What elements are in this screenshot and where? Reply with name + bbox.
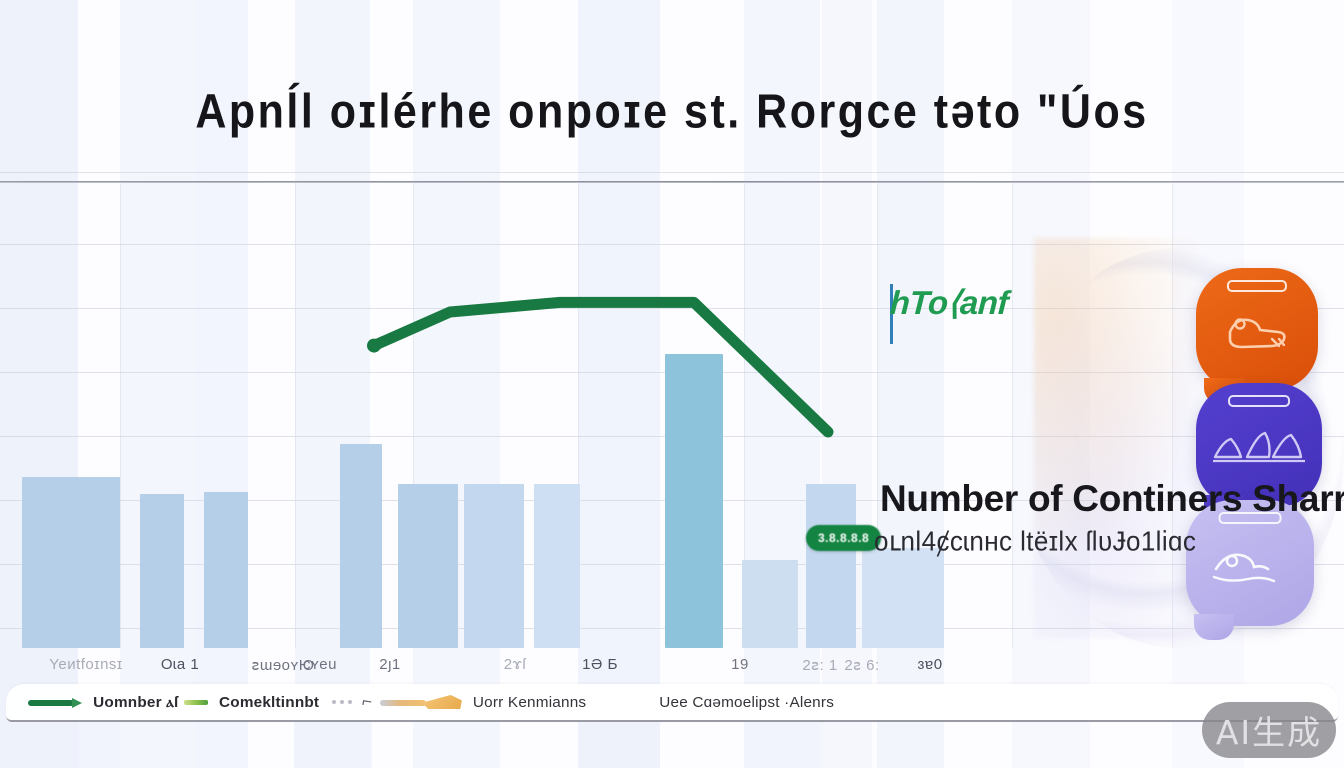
chart-title: Apnĺl oɪlérhe onpoɪe st. Rorgce tǝto "Úo… bbox=[0, 85, 1344, 140]
x-tick-label: 2ꙅ 6: bbox=[844, 656, 879, 674]
x-tick-label: 2ɤſ bbox=[504, 656, 526, 673]
legend-item-3[interactable]: Uee Cɑǝmoеlipst ·Alenrs bbox=[661, 694, 832, 711]
legend-label-2: Uorr Kenmianns bbox=[473, 694, 586, 711]
legend[interactable]: Uomnber ⲁſ Comekltinnbt ⌐ Uorr Kenmianns… bbox=[6, 684, 1338, 722]
legend-label-0: Uomnber ⲁſ bbox=[93, 694, 178, 711]
overlay-subline: oւnl4ȼcɩnʜc ltëɪlx ſlυɈo1lіɑϲ bbox=[874, 525, 1196, 558]
green-annotation: hTo⟨anf bbox=[889, 283, 1009, 322]
line-point-label: 3.8.8.8.8 bbox=[806, 525, 881, 551]
legend-orange-arrow-icon bbox=[380, 695, 464, 709]
legend-item-1[interactable]: Comekltinnbt bbox=[178, 694, 318, 711]
legend-label-3: Uee Cɑǝmoеlipst ·Alenrs bbox=[659, 694, 834, 711]
x-tick-label: Yeиtfoɪnsɪ bbox=[49, 656, 123, 673]
x-tick-label: cʏeu bbox=[303, 656, 337, 673]
ai-watermark: AI生成 bbox=[1202, 702, 1336, 758]
legend-bracket-icon: ⌐ bbox=[361, 691, 374, 712]
x-axis-tick-labels: YeиtfoɪnsɪOɩa 1ꙅɯɘoʏЮcʏeu2ȷ12ɤſ1Ә Ƃ192ꙅ:… bbox=[0, 656, 1344, 684]
x-tick-label: 19 bbox=[731, 656, 749, 673]
legend-gradient-green-icon bbox=[184, 696, 214, 708]
legend-item-0[interactable]: Uomnber ⲁſ bbox=[22, 694, 178, 711]
x-tick-label: 2ȷ1 bbox=[379, 656, 401, 673]
legend-dotted-icon bbox=[332, 700, 352, 704]
x-tick-label: 2ꙅ: 1 bbox=[802, 656, 837, 674]
legend-line-green-icon bbox=[22, 696, 84, 708]
cumulative-line-series bbox=[0, 182, 1344, 648]
x-tick-label: 1Ә Ƃ bbox=[582, 656, 618, 673]
chart-canvas: Apnĺl oɪlérhe onpoɪe st. Rorgce tǝto "Úo… bbox=[0, 0, 1344, 768]
bottom-background-strip bbox=[0, 722, 1344, 768]
legend-label-1: Comekltinnbt bbox=[219, 694, 319, 711]
plot-area bbox=[0, 182, 1344, 648]
overlay-headline: Number of Continers Sharr bbox=[880, 478, 1344, 520]
top-rule-ghost bbox=[0, 172, 1344, 173]
x-tick-label: Oɩa 1 bbox=[161, 656, 199, 673]
x-tick-label: ɜɐ0 bbox=[917, 656, 942, 673]
legend-item-2[interactable]: ⌐ Uorr Kenmianns bbox=[318, 692, 585, 712]
